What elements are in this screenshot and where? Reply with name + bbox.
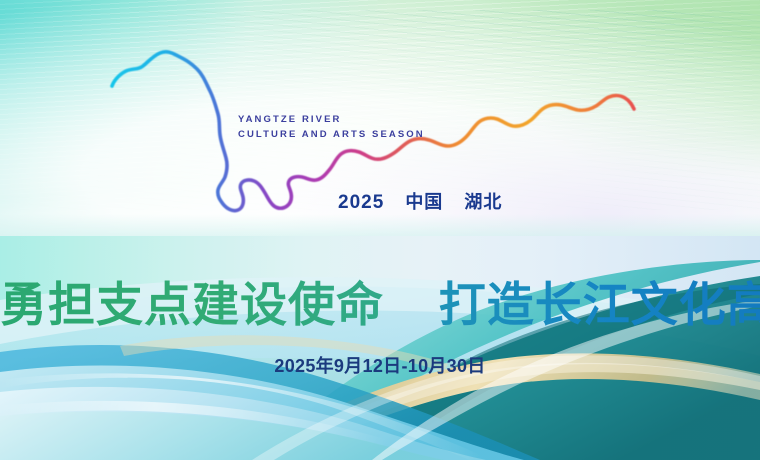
calligraphy-char-3: 文	[318, 60, 371, 113]
calligraphy-char-2: 江	[273, 60, 324, 106]
calligraphy-char-6: 術	[460, 59, 512, 106]
english-subtitle-line1: YANGTZE RIVER	[238, 112, 425, 127]
calligraphy-char-4: 化	[367, 57, 418, 103]
poster-canvas: 長 江 文 化 藝 術 季 YANGTZE RIVER CULTURE AND …	[0, 0, 760, 460]
calligraphy-char-1: 長	[225, 61, 277, 113]
year-location-line: 2025 中国 湖北	[338, 188, 502, 214]
year-label: 2025	[338, 192, 384, 213]
country-label: 中国	[405, 192, 443, 212]
headline-part-1: 勇担支点建设使命	[0, 278, 384, 333]
page-title: 勇担支点建设使命 打造长江文化高地	[0, 266, 760, 335]
calligraphy-char-7: 季	[508, 54, 559, 105]
event-date-range: 2025年9月12日-10月30日	[0, 352, 760, 378]
english-subtitle-line2: CULTURE AND ARTS SEASON	[238, 127, 425, 142]
calligraphy-title: 長 江 文 化 藝 術 季	[224, 41, 552, 124]
province-label: 湖北	[464, 192, 502, 212]
calligraphy-char-5: 藝	[413, 50, 467, 106]
headline-part-2: 打造长江文化高地	[439, 278, 760, 333]
english-subtitle: YANGTZE RIVER CULTURE AND ARTS SEASON	[238, 112, 425, 142]
